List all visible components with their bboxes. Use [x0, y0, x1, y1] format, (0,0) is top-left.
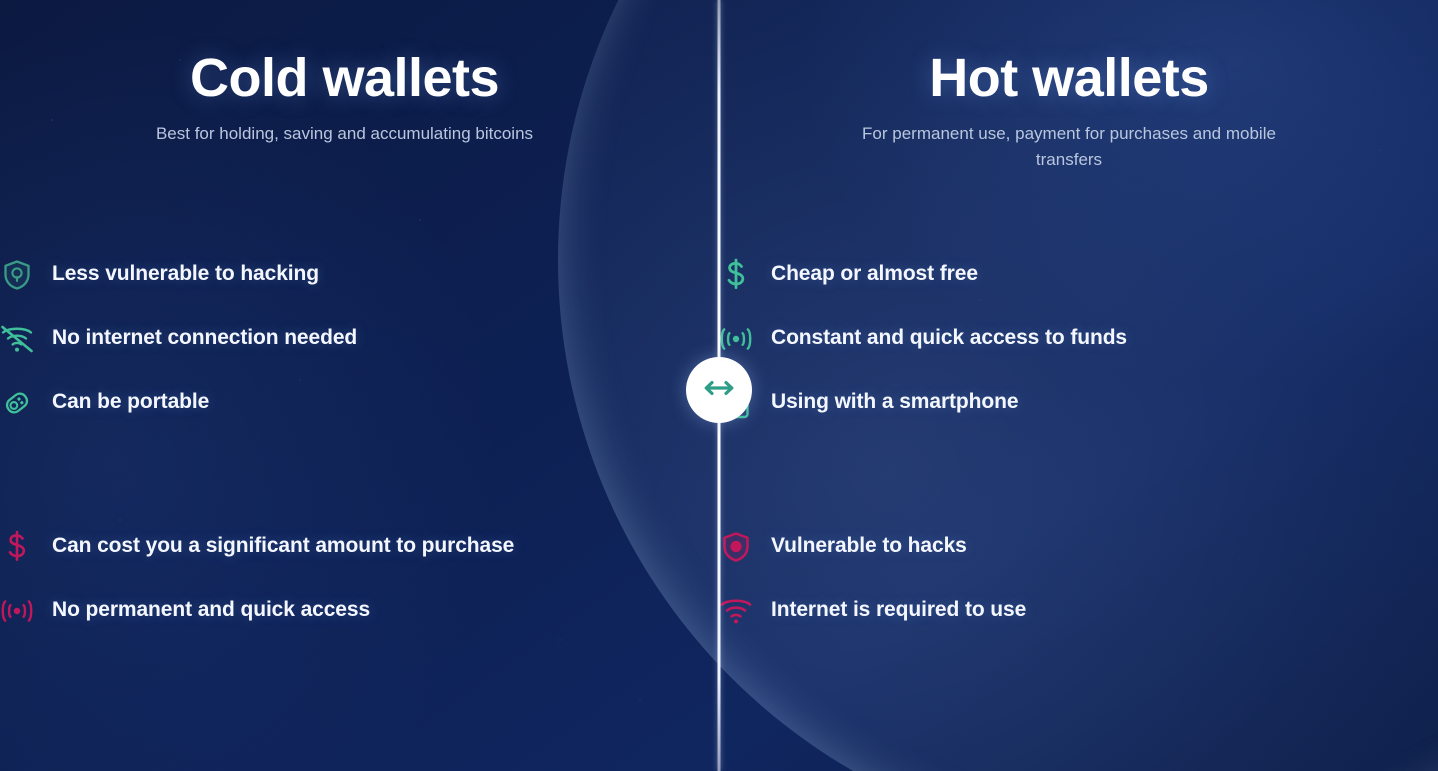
subtitle-cold: Best for holding, saving and accumulatin… — [80, 121, 609, 147]
wallet-comparison-infographic: Cold wallets Best for holding, saving an… — [0, 0, 1438, 771]
column-hot-wallets: Hot wallets For permanent use, payment f… — [719, 0, 1438, 771]
column-cold-wallets: Cold wallets Best for holding, saving an… — [0, 0, 719, 771]
subtitle-hot: For permanent use, payment for purchases… — [840, 121, 1298, 174]
hot-wallets-header: Hot wallets For permanent use, payment f… — [840, 0, 1378, 173]
swap-badge[interactable] — [686, 357, 752, 423]
cold-wallets-header: Cold wallets Best for holding, saving an… — [80, 0, 659, 147]
page-title-hot: Hot wallets — [840, 50, 1298, 107]
double-arrow-horizontal-icon — [701, 378, 737, 403]
page-title-cold: Cold wallets — [80, 50, 609, 107]
